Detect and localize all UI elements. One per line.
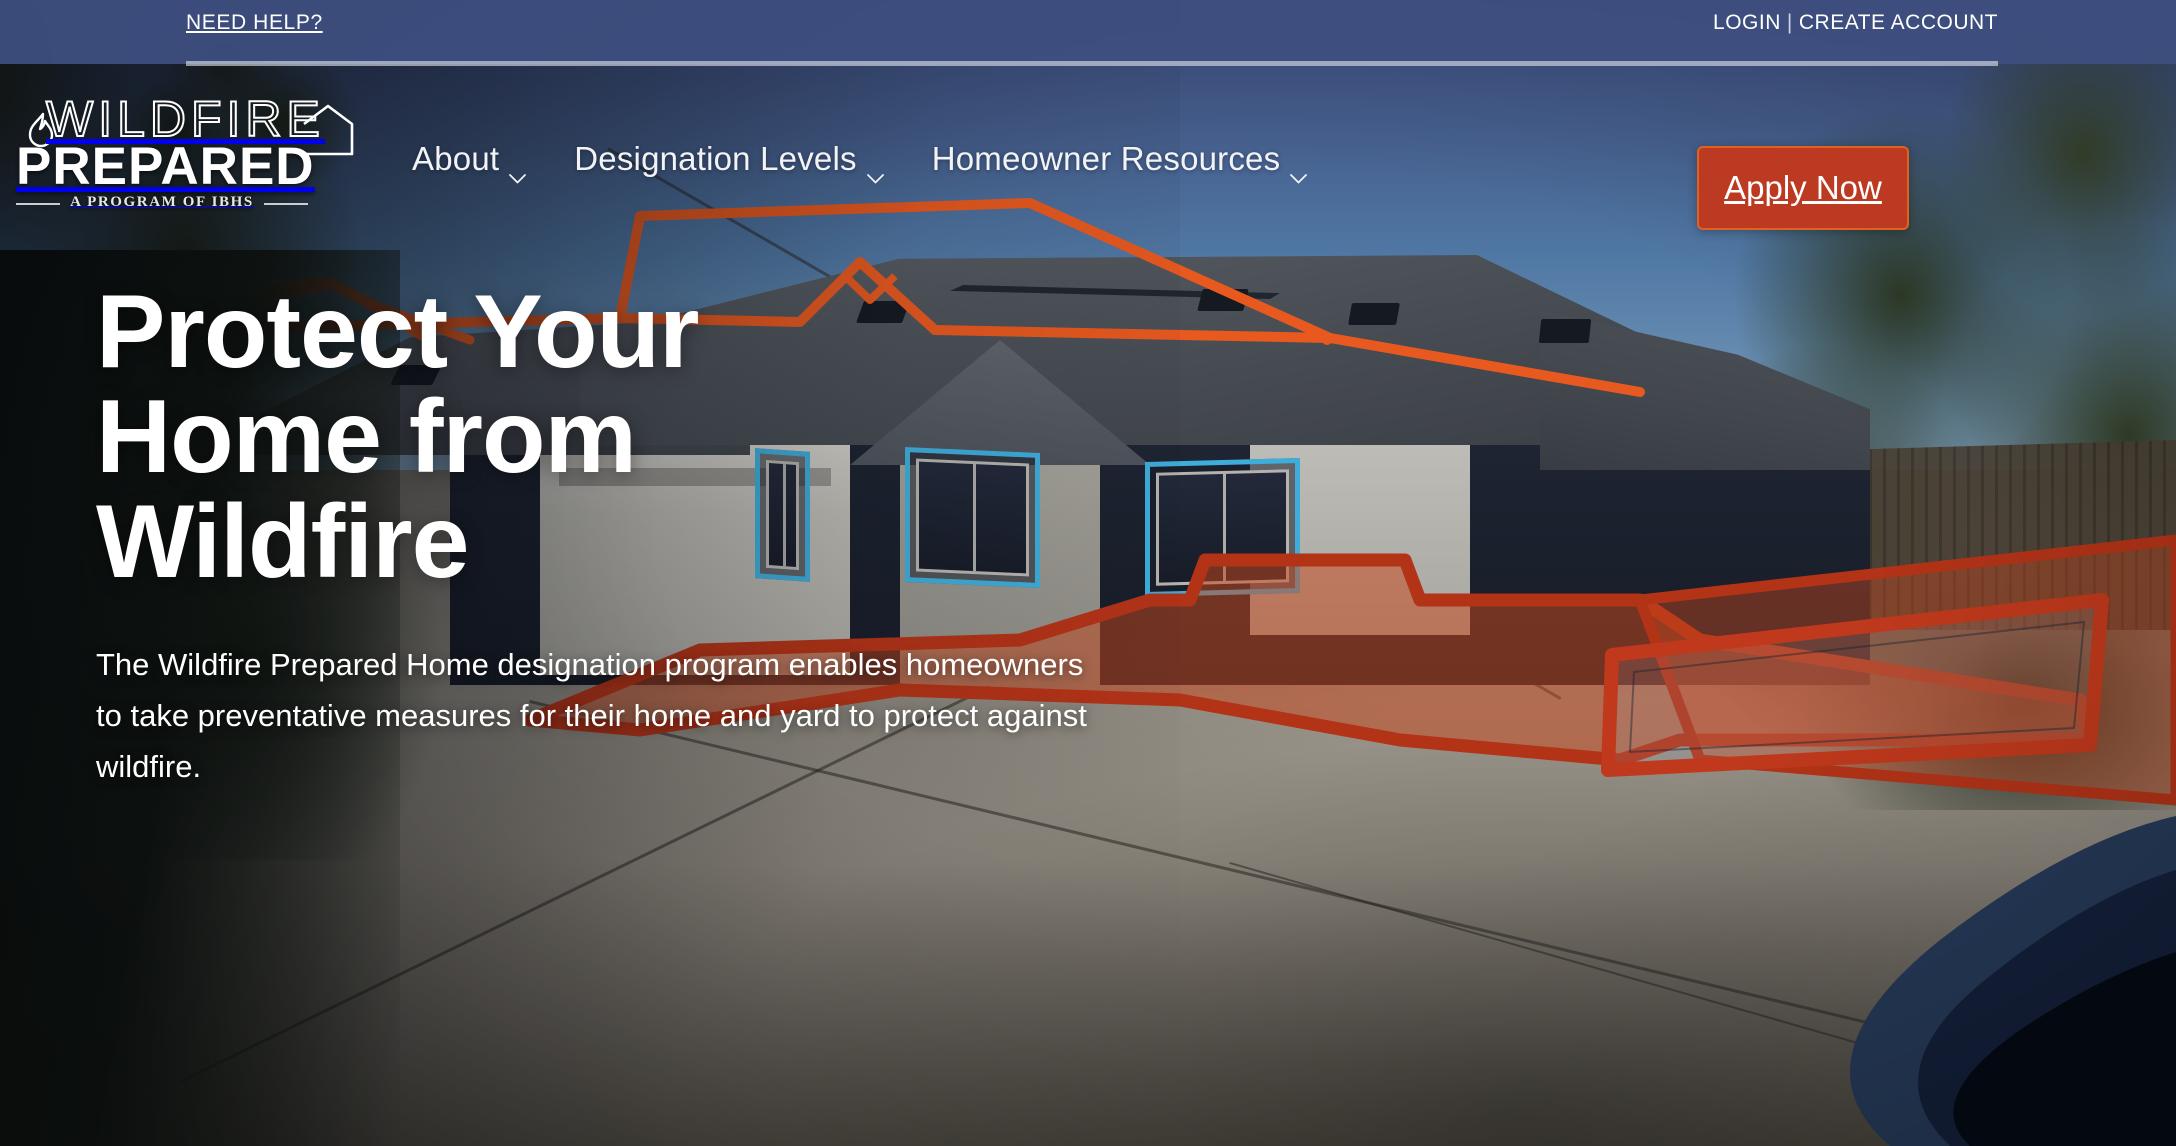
- chevron-down-icon: [509, 154, 526, 164]
- skylight: [1539, 319, 1592, 343]
- page-title-line-1: Protect Your: [96, 274, 699, 390]
- nav-item-label: About: [412, 140, 499, 178]
- auth-links: LOGIN|CREATE ACCOUNT: [1713, 11, 1998, 35]
- page-title: Protect Your Home from Wildfire: [96, 280, 1096, 595]
- hero-page: NEED HELP? LOGIN|CREATE ACCOUNT WILDFIRE…: [0, 0, 2176, 1146]
- logo-tagline: A PROGRAM OF IBHS: [16, 194, 308, 211]
- site-logo[interactable]: WILDFIRE PREPARED A PROGRAM OF IBHS: [16, 96, 356, 216]
- header-divider: [186, 61, 1998, 66]
- create-account-link[interactable]: CREATE ACCOUNT: [1799, 11, 1998, 34]
- skylight: [1348, 303, 1400, 325]
- login-link[interactable]: LOGIN: [1713, 11, 1781, 34]
- apply-now-button[interactable]: Apply Now: [1697, 146, 1909, 230]
- skylight: [1197, 289, 1248, 311]
- nav-item-label: Homeowner Resources: [932, 140, 1281, 178]
- auth-separator: |: [1787, 11, 1793, 34]
- nav-item-designation-levels[interactable]: Designation Levels: [574, 140, 883, 178]
- chevron-down-icon: [1290, 154, 1307, 164]
- need-help-link[interactable]: NEED HELP?: [186, 11, 323, 35]
- window-highlight: [1145, 458, 1300, 597]
- nav-item-about[interactable]: About: [412, 140, 526, 178]
- page-title-line-3: Wildfire: [96, 484, 468, 600]
- logo-wildfire-text: WILDFIRE: [46, 96, 356, 142]
- nav-item-label: Designation Levels: [574, 140, 856, 178]
- hero-content: Protect Your Home from Wildfire The Wild…: [96, 280, 1096, 792]
- page-title-line-2: Home from: [96, 379, 636, 495]
- car-hood: [1640, 730, 2176, 1146]
- nav-item-homeowner-resources[interactable]: Homeowner Resources: [932, 140, 1308, 178]
- chevron-down-icon: [867, 154, 884, 164]
- primary-navigation: About Designation Levels Homeowner Resou…: [412, 140, 1307, 178]
- hero-description: The Wildfire Prepared Home designation p…: [96, 639, 1106, 792]
